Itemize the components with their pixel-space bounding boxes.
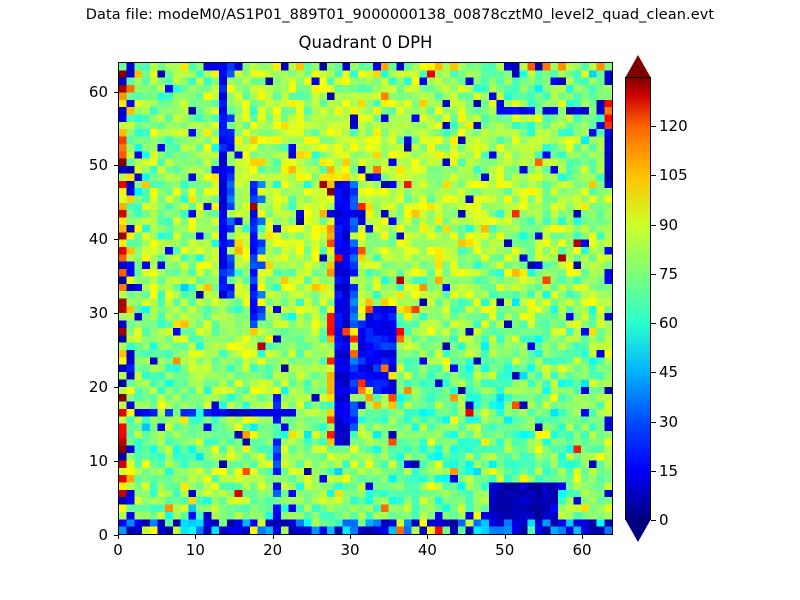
colorbar-under-range-arrow-icon bbox=[625, 519, 651, 542]
y-tick-label: 0 bbox=[56, 526, 108, 544]
x-tick-mark bbox=[505, 535, 506, 539]
colorbar-tick-label: 90 bbox=[659, 216, 678, 234]
colorbar-tick-mark bbox=[651, 126, 656, 127]
colorbar-tick-mark bbox=[651, 274, 656, 275]
y-tick-label: 10 bbox=[56, 452, 108, 470]
y-tick-mark bbox=[114, 461, 118, 462]
x-tick-mark bbox=[195, 535, 196, 539]
x-tick-label: 50 bbox=[495, 541, 514, 559]
y-tick-mark bbox=[114, 92, 118, 93]
y-tick-label: 30 bbox=[56, 304, 108, 322]
detector-heatmap-image[interactable] bbox=[119, 63, 612, 534]
colorbar-tick-mark bbox=[651, 175, 656, 176]
heatmap-axes[interactable] bbox=[118, 62, 613, 535]
colorbar-tick-label: 0 bbox=[659, 511, 669, 529]
plot-title: Quadrant 0 DPH bbox=[118, 33, 613, 52]
colorbar-tick-label: 60 bbox=[659, 314, 678, 332]
figure-canvas: Data file: modeM0/AS1P01_889T01_90000001… bbox=[0, 0, 800, 600]
colorbar-tick-mark bbox=[651, 422, 656, 423]
colorbar-tick-mark bbox=[651, 372, 656, 373]
colorbar-tick-mark bbox=[651, 471, 656, 472]
colorbar[interactable]: 0153045607590105120 bbox=[625, 55, 651, 542]
x-tick-label: 40 bbox=[418, 541, 437, 559]
x-tick-label: 60 bbox=[573, 541, 592, 559]
colorbar-tick-mark bbox=[651, 225, 656, 226]
colorbar-tick-label: 120 bbox=[659, 117, 688, 135]
y-tick-mark bbox=[114, 239, 118, 240]
data-file-suptitle: Data file: modeM0/AS1P01_889T01_90000001… bbox=[0, 7, 800, 23]
y-tick-label: 20 bbox=[56, 378, 108, 396]
colorbar-over-range-arrow-icon bbox=[625, 55, 651, 78]
x-tick-label: 10 bbox=[186, 541, 205, 559]
colorbar-tick-label: 105 bbox=[659, 166, 688, 184]
x-tick-label: 20 bbox=[263, 541, 282, 559]
x-tick-mark bbox=[350, 535, 351, 539]
y-tick-label: 60 bbox=[56, 83, 108, 101]
colorbar-tick-mark bbox=[651, 323, 656, 324]
x-tick-label: 30 bbox=[340, 541, 359, 559]
colorbar-tick-label: 45 bbox=[659, 363, 678, 381]
x-tick-mark bbox=[582, 535, 583, 539]
y-tick-label: 50 bbox=[56, 156, 108, 174]
y-tick-mark bbox=[114, 313, 118, 314]
x-tick-label: 0 bbox=[113, 541, 123, 559]
x-tick-mark bbox=[273, 535, 274, 539]
x-tick-mark bbox=[427, 535, 428, 539]
colorbar-gradient bbox=[625, 77, 651, 520]
y-tick-mark bbox=[114, 165, 118, 166]
colorbar-tick-label: 15 bbox=[659, 462, 678, 480]
x-tick-mark bbox=[118, 535, 119, 539]
colorbar-tick-label: 75 bbox=[659, 265, 678, 283]
y-tick-mark bbox=[114, 535, 118, 536]
y-tick-mark bbox=[114, 387, 118, 388]
y-tick-label: 40 bbox=[56, 230, 108, 248]
colorbar-tick-label: 30 bbox=[659, 413, 678, 431]
colorbar-tick-mark bbox=[651, 520, 656, 521]
